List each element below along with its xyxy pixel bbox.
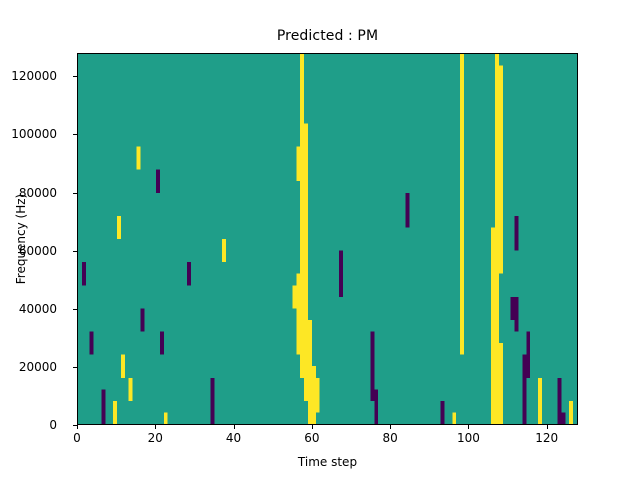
x-tick-label: 0 bbox=[73, 431, 81, 445]
x-tick-mark bbox=[234, 425, 235, 429]
x-tick-label: 120 bbox=[535, 431, 558, 445]
x-tick-mark bbox=[468, 425, 469, 429]
x-tick-label: 60 bbox=[304, 431, 319, 445]
y-tick-label: 0 bbox=[49, 418, 57, 432]
x-tick-label: 40 bbox=[226, 431, 241, 445]
x-tick-label: 100 bbox=[457, 431, 480, 445]
matplotlib-figure: Predicted : PM 0200004000060000800001000… bbox=[0, 0, 640, 480]
x-tick-mark bbox=[390, 425, 391, 429]
y-tick-mark bbox=[73, 134, 77, 135]
y-tick-mark bbox=[73, 367, 77, 368]
y-axis-label: Frequency (Hz) bbox=[14, 53, 30, 425]
x-tick-label: 80 bbox=[382, 431, 397, 445]
y-tick-mark bbox=[73, 193, 77, 194]
page-title: Predicted : PM bbox=[77, 28, 578, 44]
x-axis-label: Time step bbox=[77, 455, 578, 469]
heatmap-image bbox=[78, 54, 577, 424]
x-tick-mark bbox=[312, 425, 313, 429]
x-tick-mark bbox=[155, 425, 156, 429]
x-tick-mark bbox=[77, 425, 78, 429]
y-tick-mark bbox=[73, 309, 77, 310]
x-tick-mark bbox=[547, 425, 548, 429]
y-tick-mark bbox=[73, 76, 77, 77]
y-tick-mark bbox=[73, 251, 77, 252]
heatmap-axes bbox=[77, 53, 578, 425]
x-tick-label: 20 bbox=[148, 431, 163, 445]
